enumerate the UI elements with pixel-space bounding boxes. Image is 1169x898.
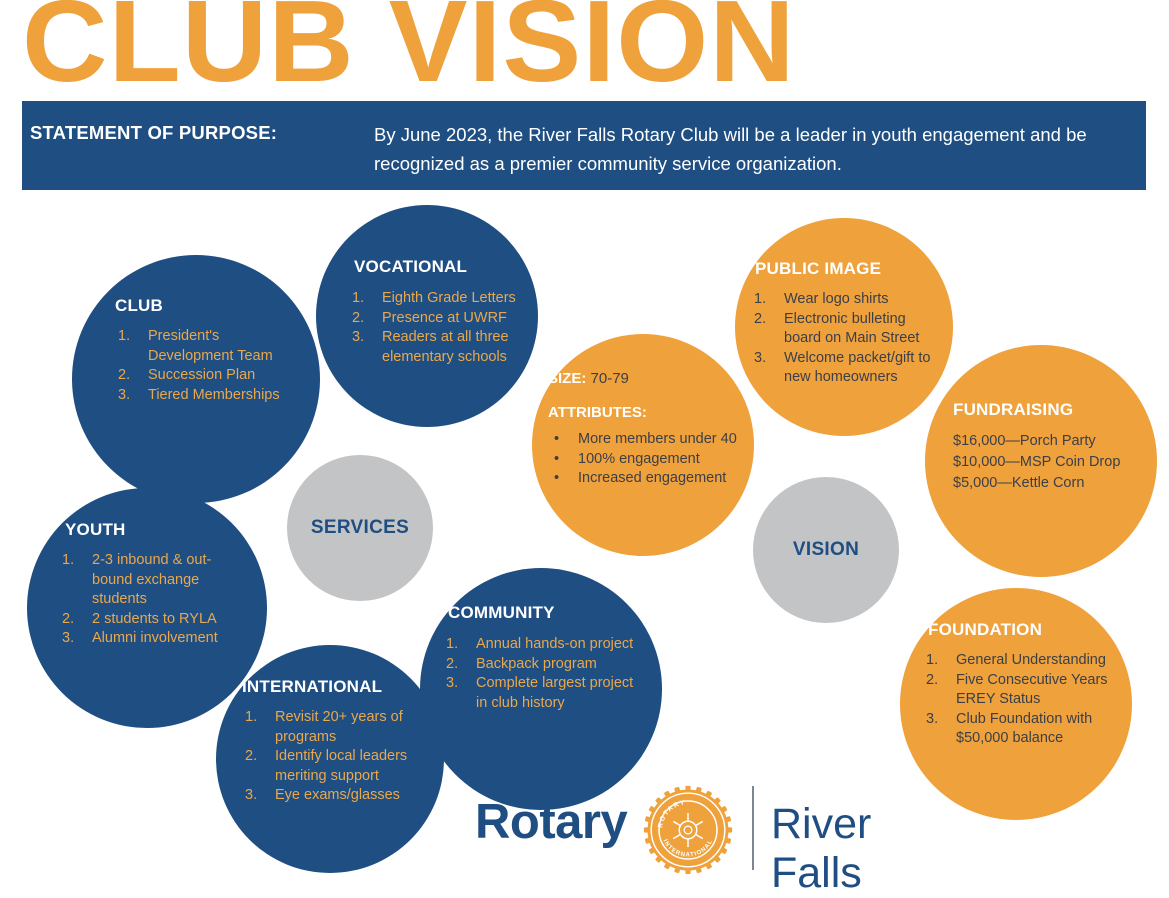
list-number: 1. [118, 327, 130, 347]
list-item: 1.Eighth Grade Letters [352, 289, 532, 309]
attributes-label: ATTRIBUTES: [548, 404, 647, 421]
list-item-text: President's Development Team [148, 328, 273, 364]
circle-foundation-title: FOUNDATION [928, 620, 1042, 640]
logo-divider [752, 786, 754, 870]
list-item: 2.Presence at UWRF [352, 309, 532, 329]
list-item: 2.Succession Plan [118, 366, 298, 386]
list-item: 1.2-3 inbound & out-bound exchange stude… [62, 551, 237, 610]
circle-international-title: INTERNATIONAL [242, 677, 382, 697]
circle-youth: YOUTH 1.2-3 inbound & out-bound exchange… [27, 488, 267, 728]
list-item: 3.Alumni involvement [62, 629, 237, 649]
list-item-text: More members under 40 [578, 431, 737, 447]
list-item-text: Presence at UWRF [382, 310, 507, 326]
list-number: 1. [352, 289, 364, 309]
list-item-text: Annual hands-on project [476, 636, 633, 652]
list-item: 2.Five Consecutive Years EREY Status [926, 671, 1116, 710]
list-item: 1.Annual hands-on project [446, 635, 636, 655]
list-item: 1.President's Development Team [118, 327, 298, 366]
circle-public-image: PUBLIC IMAGE 1.Wear logo shirts 2.Electr… [735, 218, 953, 436]
circle-services: SERVICES [287, 455, 433, 601]
list-number: 1. [62, 551, 74, 571]
circle-youth-title: YOUTH [65, 520, 126, 540]
list-number: 3. [446, 674, 458, 694]
list-number: 2. [352, 309, 364, 329]
size-value: 70-79 [591, 370, 629, 387]
list-number: 2. [245, 747, 257, 767]
circle-club-list: 1.President's Development Team 2.Success… [118, 327, 298, 405]
list-number: 1. [926, 651, 938, 671]
list-number: 1. [245, 708, 257, 728]
list-item-text: Five Consecutive Years EREY Status [956, 672, 1108, 708]
header: STATEMENT OF PURPOSE: By June 2023, the … [0, 0, 1169, 195]
circle-community: COMMUNITY 1.Annual hands-on project 2.Ba… [420, 568, 662, 810]
size-label: SIZE: [548, 370, 586, 387]
list-number: 3. [926, 710, 938, 730]
circle-vocational-title: VOCATIONAL [354, 257, 467, 277]
circle-public-image-list: 1.Wear logo shirts 2.Electronic bulletin… [754, 290, 944, 388]
fundraising-line: $5,000—Kettle Corn [953, 473, 1143, 494]
list-number: 2. [926, 671, 938, 691]
circle-fundraising-title: FUNDRAISING [953, 400, 1073, 420]
circle-vision: VISION [753, 477, 899, 623]
list-item-text: Eye exams/glasses [275, 787, 400, 803]
circle-community-title: COMMUNITY [448, 603, 555, 623]
list-item: 3.Tiered Memberships [118, 386, 298, 406]
rotary-wordmark: Rotary [475, 794, 627, 850]
circle-club: CLUB 1.President's Development Team 2.Su… [72, 255, 320, 503]
list-item-text: Identify local leaders meriting support [275, 748, 407, 784]
list-item: 3.Readers at all three elementary school… [352, 328, 532, 367]
circle-community-list: 1.Annual hands-on project 2.Backpack pro… [446, 635, 636, 713]
list-item: 2.2 students to RYLA [62, 610, 237, 630]
list-item-text: Revisit 20+ years of programs [275, 709, 403, 745]
list-item: •100% engagement [548, 450, 748, 470]
size-line: SIZE: 70-79 [548, 370, 629, 387]
purpose-text: By June 2023, the River Falls Rotary Clu… [374, 120, 1134, 178]
list-item: •More members under 40 [548, 430, 748, 450]
purpose-label: STATEMENT OF PURPOSE: [30, 122, 277, 144]
attributes-list: •More members under 40 •100% engagement … [548, 430, 748, 489]
list-number: 3. [245, 786, 257, 806]
list-item: 2.Identify local leaders meriting suppor… [245, 747, 423, 786]
bullet-icon: • [554, 450, 559, 470]
list-number: 2. [62, 610, 74, 630]
circle-fundraising: FUNDRAISING $16,000—Porch Party $10,000—… [925, 345, 1157, 577]
list-item: 3.Club Foundation with $50,000 balance [926, 710, 1116, 749]
list-item: 3.Welcome packet/gift to new homeowners [754, 349, 944, 388]
list-number: 3. [62, 629, 74, 649]
list-item: 2.Backpack program [446, 655, 636, 675]
list-item-text: Increased engagement [578, 470, 726, 486]
bullet-icon: • [554, 430, 559, 450]
list-item-text: Eighth Grade Letters [382, 290, 516, 306]
list-number: 2. [118, 366, 130, 386]
fundraising-line: $10,000—MSP Coin Drop [953, 452, 1143, 473]
circle-services-label: SERVICES [287, 517, 433, 539]
list-item-text: Wear logo shirts [784, 291, 889, 307]
circle-youth-list: 1.2-3 inbound & out-bound exchange stude… [62, 551, 237, 649]
list-number: 1. [754, 290, 766, 310]
list-item: 1.General Understanding [926, 651, 1116, 671]
list-item-text: Welcome packet/gift to new homeowners [784, 350, 930, 386]
list-item-text: Succession Plan [148, 367, 255, 383]
circle-vision-label: VISION [753, 539, 899, 561]
list-number: 3. [118, 386, 130, 406]
list-item-text: Electronic bulleting board on Main Stree… [784, 311, 919, 347]
page-title: CLUB VISION [22, 0, 1169, 106]
circle-vocational: VOCATIONAL 1.Eighth Grade Letters 2.Pres… [316, 205, 538, 427]
list-number: 2. [446, 655, 458, 675]
list-item-text: 100% engagement [578, 451, 700, 467]
club-name: River Falls [771, 800, 945, 898]
list-item: 2.Electronic bulleting board on Main Str… [754, 310, 944, 349]
list-item-text: Alumni involvement [92, 630, 218, 646]
list-item: 3.Eye exams/glasses [245, 786, 423, 806]
circle-vocational-list: 1.Eighth Grade Letters 2.Presence at UWR… [352, 289, 532, 367]
list-item-text: General Understanding [956, 652, 1106, 668]
list-item-text: Club Foundation with $50,000 balance [956, 711, 1092, 747]
circle-public-image-title: PUBLIC IMAGE [755, 259, 881, 279]
circle-club-title: CLUB [115, 296, 163, 316]
circle-foundation-list: 1.General Understanding 2.Five Consecuti… [926, 651, 1116, 749]
list-item-text: Complete largest project in club history [476, 675, 633, 711]
list-item: 1.Revisit 20+ years of programs [245, 708, 423, 747]
rotary-logo: Rotary [475, 784, 945, 872]
circle-international-list: 1.Revisit 20+ years of programs 2.Identi… [245, 708, 423, 806]
list-number: 3. [352, 328, 364, 348]
list-item-text: Backpack program [476, 656, 597, 672]
list-item: 3.Complete largest project in club histo… [446, 674, 636, 713]
list-number: 2. [754, 310, 766, 330]
list-item: •Increased engagement [548, 469, 748, 489]
list-item-text: Tiered Memberships [148, 387, 280, 403]
circle-center-attributes: SIZE: 70-79 ATTRIBUTES: •More members un… [532, 334, 754, 556]
fundraising-line: $16,000—Porch Party [953, 431, 1143, 452]
list-item: 1.Wear logo shirts [754, 290, 944, 310]
list-number: 1. [446, 635, 458, 655]
circle-international: INTERNATIONAL 1.Revisit 20+ years of pro… [216, 645, 444, 873]
list-number: 3. [754, 349, 766, 369]
list-item-text: 2 students to RYLA [92, 611, 217, 627]
bullet-icon: • [554, 469, 559, 489]
circle-fundraising-lines: $16,000—Porch Party $10,000—MSP Coin Dro… [953, 431, 1143, 494]
list-item-text: 2-3 inbound & out-bound exchange student… [92, 552, 211, 607]
rotary-wheel-icon: ROTARY INTERNATIONAL [642, 784, 734, 876]
purpose-banner: STATEMENT OF PURPOSE: By June 2023, the … [22, 101, 1146, 190]
list-item-text: Readers at all three elementary schools [382, 329, 509, 365]
